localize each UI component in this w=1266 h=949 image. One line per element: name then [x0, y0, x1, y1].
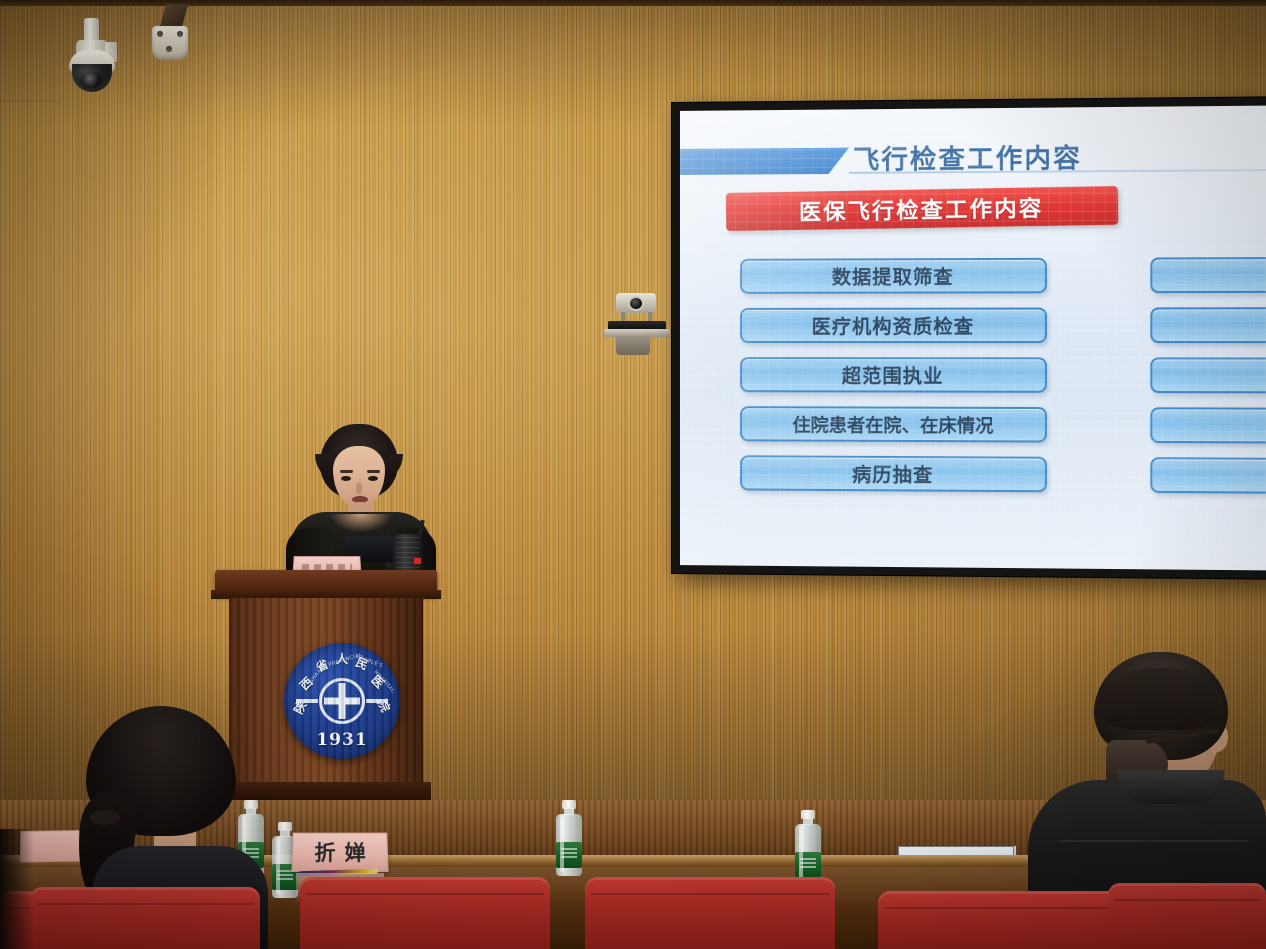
chair [300, 877, 550, 949]
slide-pill: 过 [1150, 307, 1266, 343]
slide-pill-label: 病历抽查 [852, 460, 933, 488]
chair [585, 877, 835, 949]
chair [30, 887, 260, 949]
name-placard: 折婵 折婵 [292, 832, 388, 880]
emblem-ring [319, 678, 365, 724]
speaker-eye [341, 476, 351, 481]
jacket-collar [1118, 770, 1224, 804]
chair [1108, 883, 1266, 949]
speaker-eyebrow [340, 470, 353, 473]
conference-room-photo: 飞行检查工作内容 医保飞行检查工作内容 数据提取筛查 医疗机构资质检查 超范围执… [0, 0, 1266, 949]
bracket-hole [166, 46, 172, 52]
bottle-highlight [276, 838, 280, 894]
slide-red-banner: 医保飞行检查工作内容 [726, 186, 1119, 231]
emblem-latin-ring: SHAANXI PROVINCIAL PEOPLE'S HOSPITAL [284, 643, 400, 759]
bracket-plate [152, 26, 188, 60]
bracket-hole [177, 31, 183, 37]
foreground-shadow [0, 829, 34, 949]
speaker-eye [368, 476, 378, 481]
slide-title-bar: 飞行检查工作内容 [680, 132, 1266, 181]
emblem-chinese-ring: 陕 西 省 人 民 医 院 [284, 643, 400, 759]
emblem-cross [324, 698, 360, 705]
slide-pill: 数据提取筛查 [740, 258, 1047, 294]
ptz-lens [81, 72, 101, 88]
emblem-cross [339, 683, 346, 719]
slide-pill: 不合 [1150, 256, 1266, 293]
hospital-emblem: SHAANXI PROVINCIAL PEOPLE'S HOSPITAL 陕 西… [284, 643, 400, 759]
emblem-wing [296, 699, 318, 703]
slide-title: 飞行检查工作内容 [853, 136, 1266, 177]
slide-surface: 飞行检查工作内容 医保飞行检查工作内容 数据提取筛查 医疗机构资质检查 超范围执… [680, 106, 1266, 571]
conference-camera-icon [604, 293, 670, 355]
wall-bracket-icon [152, 4, 190, 64]
slide-pill-label: 住院患者在院、在床情况 [792, 411, 993, 438]
slide-pill-label: 数据提取筛查 [832, 262, 954, 290]
slide-pill: 串换 [1150, 407, 1266, 444]
mic-indicator [414, 558, 421, 564]
ptz-dome-camera-icon [68, 18, 116, 90]
microphone-icon [393, 520, 431, 576]
mic-body [393, 534, 423, 574]
slide-right-column: 不合 过 违 串换 冒用 [1150, 256, 1266, 509]
slide-pill-label: 超范围执业 [842, 361, 944, 388]
projection-screen: 飞行检查工作内容 医保飞行检查工作内容 数据提取筛查 医疗机构资质检查 超范围执… [672, 97, 1266, 578]
slide-pill: 违 [1150, 357, 1266, 393]
slide-banner-text: 医保飞行检查工作内容 [799, 190, 1044, 227]
slide-pill: 冒用 [1150, 457, 1266, 495]
slide-pill: 医疗机构资质检查 [740, 308, 1047, 344]
slide-pill: 病历抽查 [740, 455, 1047, 492]
placard-name: 折婵 [305, 837, 375, 867]
bottle-highlight [799, 826, 803, 882]
slide-pill: 超范围执业 [740, 357, 1047, 393]
slide-left-column: 数据提取筛查 医疗机构资质检查 超范围执业 住院患者在院、在床情况 病历抽查 [740, 258, 1047, 507]
audience-hair-tie [90, 810, 120, 825]
emblem-year: 1931 [284, 730, 400, 750]
slide-pill: 住院患者在院、在床情况 [740, 406, 1047, 442]
speaker-nose [356, 482, 362, 494]
bottle-highlight [560, 816, 564, 872]
camera-lens [628, 296, 644, 311]
camera-mount [616, 336, 650, 355]
bracket-hole [157, 31, 163, 37]
placard-face: 折婵 [291, 833, 388, 872]
chair [878, 891, 1128, 949]
title-accent-bar [680, 148, 849, 175]
slide-pill-label: 医疗机构资质检查 [812, 312, 975, 339]
emblem-wing [366, 699, 388, 703]
speaker-eyebrow [367, 470, 380, 473]
